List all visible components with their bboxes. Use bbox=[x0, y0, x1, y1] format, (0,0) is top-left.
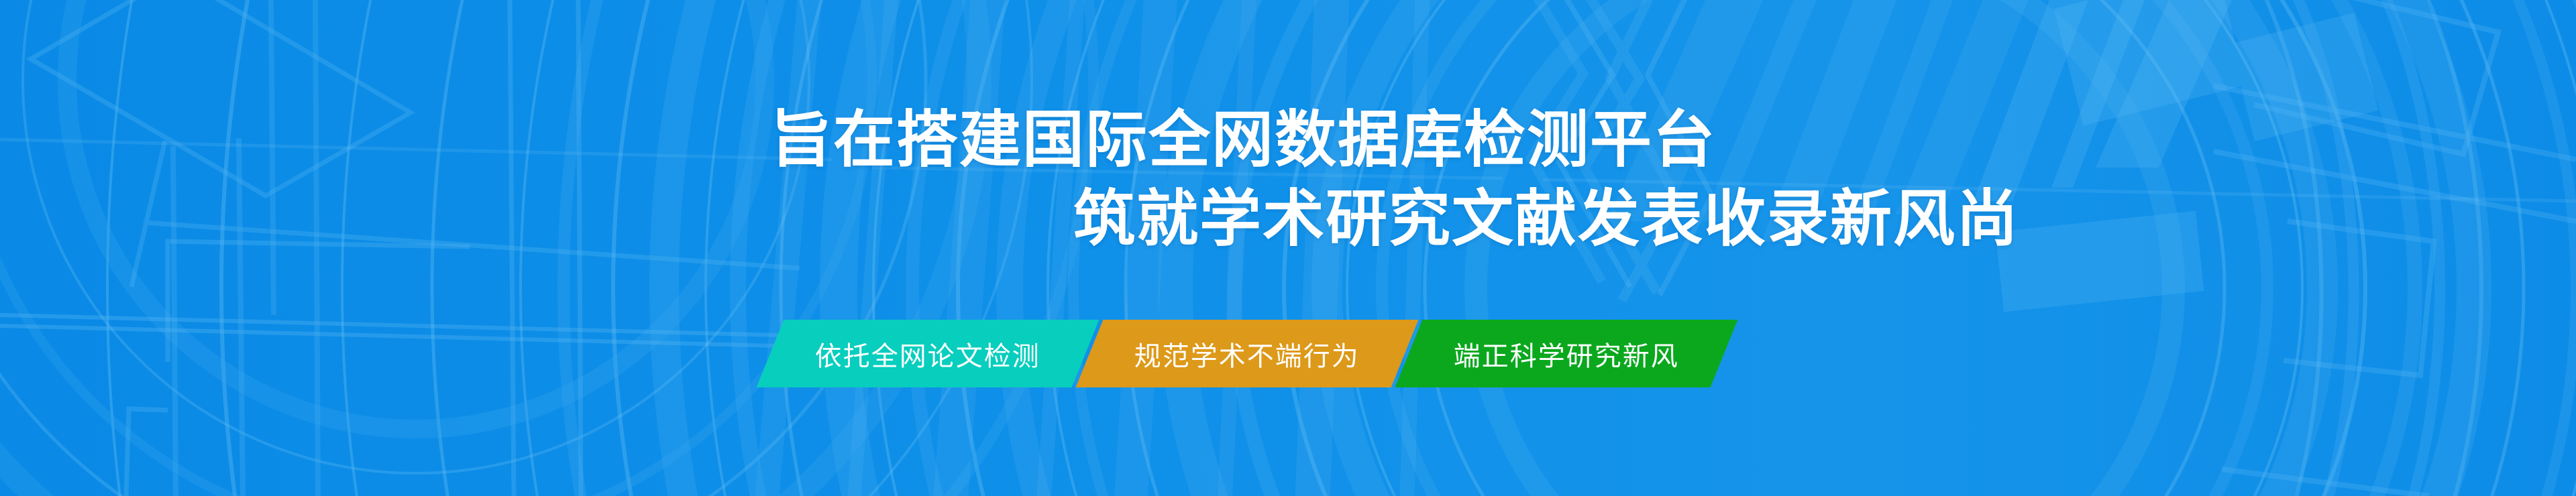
feature-tag-1[interactable]: 依托全网论文检测 bbox=[757, 320, 1099, 387]
headline-block: 旨在搭建国际全网数据库检测平台 筑就学术研究文献发表收录新风尚 bbox=[0, 101, 2576, 259]
feature-tag-2-label: 规范学术不端行为 bbox=[1134, 334, 1360, 373]
feature-tag-strip: 依托全网论文检测 规范学术不端行为 端正科学研究新风 bbox=[770, 320, 1724, 387]
feature-tag-1-label: 依托全网论文检测 bbox=[815, 334, 1040, 373]
feature-tag-3[interactable]: 端正科学研究新风 bbox=[1395, 320, 1738, 387]
feature-tag-3-label: 端正科学研究新风 bbox=[1454, 334, 1679, 373]
headline-line-1: 旨在搭建国际全网数据库检测平台 bbox=[0, 101, 2576, 180]
feature-tag-2[interactable]: 规范学术不端行为 bbox=[1076, 320, 1419, 387]
headline-line-2: 筑就学术研究文献发表收录新风尚 bbox=[0, 180, 2576, 259]
promo-banner: 旨在搭建国际全网数据库检测平台 筑就学术研究文献发表收录新风尚 依托全网论文检测… bbox=[0, 0, 2576, 496]
